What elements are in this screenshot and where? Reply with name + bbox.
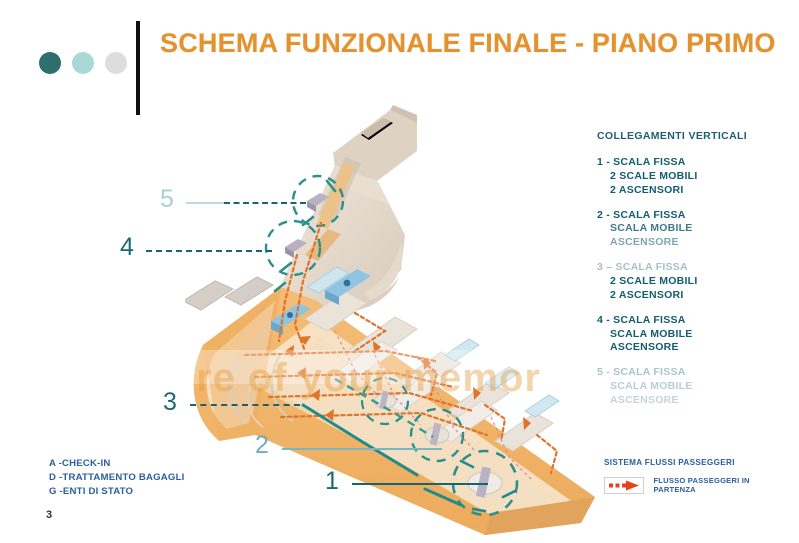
page-title: SCHEMA FUNZIONALE FINALE - PIANO PRIMO — [160, 28, 780, 60]
callout-number-5: 5 — [160, 185, 174, 214]
legend-item-2[interactable]: 2 - SCALA FISSA SCALA MOBILE ASCENSORE — [597, 209, 787, 251]
leader-line-5b — [224, 202, 306, 204]
legend-item-4-head: 4 - SCALA FISSA — [597, 314, 686, 326]
flow-legend-title: SISTEMA FLUSSI PASSEGGERI — [604, 458, 789, 467]
flow-legend-row: FLUSSO PASSEGGERI IN PARTENZA — [604, 476, 789, 494]
dot-teal-dark-icon — [39, 52, 61, 74]
page-number: 3 — [46, 509, 52, 521]
legend-item-2-line2: SCALA MOBILE — [597, 222, 787, 236]
dot-gray-icon — [105, 52, 127, 74]
leader-line-1 — [352, 483, 488, 485]
legend-item-1[interactable]: 1 - SCALA FISSA 2 SCALE MOBILI 2 ASCENSO… — [597, 156, 787, 198]
title-divider-rule — [136, 21, 140, 115]
slide-root: SCHEMA FUNZIONALE FINALE - PIANO PRIMO — [0, 0, 799, 543]
passenger-flow-legend: SISTEMA FLUSSI PASSEGGERI FLUSSO PASSEGG… — [604, 458, 789, 494]
legend-item-5-line2: SCALA MOBILE — [597, 380, 787, 394]
vertical-links-legend: COLLEGAMENTI VERTICALI 1 - SCALA FISSA 2… — [597, 130, 787, 419]
legend-item-3-line3: 2 ASCENSORI — [597, 289, 787, 303]
leader-line-2 — [282, 448, 442, 450]
zone-key: A -CHECK-IN D -TRATTAMENTO BAGAGLI G -EN… — [49, 457, 185, 499]
legend-item-2-head: 2 - SCALA FISSA — [597, 209, 686, 221]
leader-line-4 — [146, 250, 272, 252]
callout-number-3: 3 — [163, 388, 177, 417]
legend-item-5-line3: ASCENSORE — [597, 394, 787, 408]
legend-item-3-line2: 2 SCALE MOBILI — [597, 275, 787, 289]
legend-title: COLLEGAMENTI VERTICALI — [597, 130, 787, 142]
legend-item-1-line3: 2 ASCENSORI — [597, 184, 787, 198]
dot-teal-light-icon — [72, 52, 94, 74]
legend-item-4-line2: SCALA MOBILE — [597, 328, 787, 342]
leader-line-5a — [186, 202, 224, 204]
callout-number-2: 2 — [255, 431, 269, 460]
callout-number-4: 4 — [120, 233, 134, 262]
legend-item-3[interactable]: 3 – SCALA FISSA 2 SCALE MOBILI 2 ASCENSO… — [597, 261, 787, 303]
legend-item-3-head: 3 – SCALA FISSA — [597, 261, 688, 273]
decorative-dots — [39, 52, 127, 74]
legend-item-5-head: 5 - SCALA FISSA — [597, 366, 686, 378]
legend-item-1-line2: 2 SCALE MOBILI — [597, 170, 787, 184]
leader-line-3 — [190, 404, 300, 406]
zone-key-line-3: G -ENTI DI STATO — [49, 485, 185, 499]
legend-item-4[interactable]: 4 - SCALA FISSA SCALA MOBILE ASCENSORE — [597, 314, 787, 356]
legend-item-1-head: 1 - SCALA FISSA — [597, 156, 686, 168]
legend-item-2-line3: ASCENSORE — [597, 236, 787, 250]
legend-item-4-line3: ASCENSORE — [597, 341, 787, 355]
zone-key-line-2: D -TRATTAMENTO BAGAGLI — [49, 471, 185, 485]
legend-item-5[interactable]: 5 - SCALA FISSA SCALA MOBILE ASCENSORE — [597, 366, 787, 408]
flow-legend-label: FLUSSO PASSEGGERI IN PARTENZA — [653, 476, 789, 494]
callout-number-1: 1 — [325, 467, 339, 496]
flow-arrow-icon — [604, 477, 644, 494]
zone-key-line-1: A -CHECK-IN — [49, 457, 185, 471]
functional-scheme-diagram — [185, 105, 605, 535]
